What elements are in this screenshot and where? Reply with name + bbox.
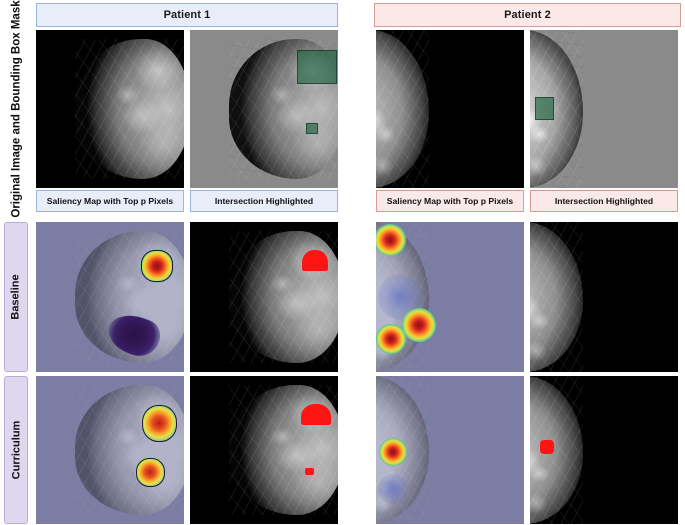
tissue-texture [376,30,429,188]
mammogram-p1-cc [36,30,184,188]
bounding-box-lesion [536,98,553,119]
saliency-blob-outline [142,405,177,442]
intersection-region-lesion [540,440,554,454]
patient-2-bounding-box-mask [530,30,678,188]
tissue-texture [75,39,184,178]
breast-tissue [530,222,583,372]
saliency-blob-hot-spot-lesion [379,438,407,466]
patient-1-header: Patient 1 [36,3,338,27]
tissue-texture [530,222,583,372]
tissue-texture [530,376,583,524]
patient-2-title: Patient 2 [504,9,551,21]
patient-1-original-image [36,30,184,188]
patient-1-baseline-intersection [190,222,338,372]
patient-2-original-image [376,30,524,188]
intersection-region-lower [305,468,314,475]
bounding-box-large-lesion [298,51,336,83]
patient-2-col-intersection-header: Intersection Highlighted [530,190,678,212]
saliency-blob-outline [141,250,173,282]
patient-1-curriculum-saliency [36,376,184,524]
patient-2-curriculum-intersection [530,376,678,524]
patient-1-bounding-box-mask [190,30,338,188]
patient-2-baseline-intersection [530,222,678,372]
patient-2-curriculum-saliency [376,376,524,524]
saliency-blob-outline [136,458,165,487]
patient-1-title: Patient 1 [164,9,211,21]
saliency-blob-faint-spot-lower [378,474,408,504]
breast-tissue [530,376,583,524]
tissue-texture [75,385,184,515]
saliency-blob-hot-spot-mid [402,308,436,342]
patient-1-col-saliency-header: Saliency Map with Top p Pixels [36,190,184,212]
patient-1-col-intersection-header: Intersection Highlighted [190,190,338,212]
breast-tissue [376,30,429,188]
saliency-blob-hot-spot-left [376,324,406,354]
figure-root: Patient 1 Patient 2 Original Image and B… [0,0,685,525]
breast-tissue [75,385,184,515]
bounding-box-small-lesion [307,124,317,133]
patient-1-baseline-saliency [36,222,184,372]
row-label-original-image: Original Image and Bounding Box Mask [0,30,34,188]
mammogram-p1-masked [190,30,338,188]
patient-2-baseline-saliency [376,222,524,372]
intersection-region-upper [302,250,328,271]
mammogram-p2-mlo [376,30,524,188]
patient-2-col-saliency-header: Saliency Map with Top p Pixels [376,190,524,212]
row-label-curriculum: Curriculum [4,376,28,524]
patient-2-header: Patient 2 [374,3,681,27]
row-label-baseline: Baseline [4,222,28,372]
intersection-region-upper [301,404,331,425]
breast-tissue [75,39,184,178]
patient-1-curriculum-intersection [190,376,338,524]
mammogram-p2-masked [530,30,678,188]
